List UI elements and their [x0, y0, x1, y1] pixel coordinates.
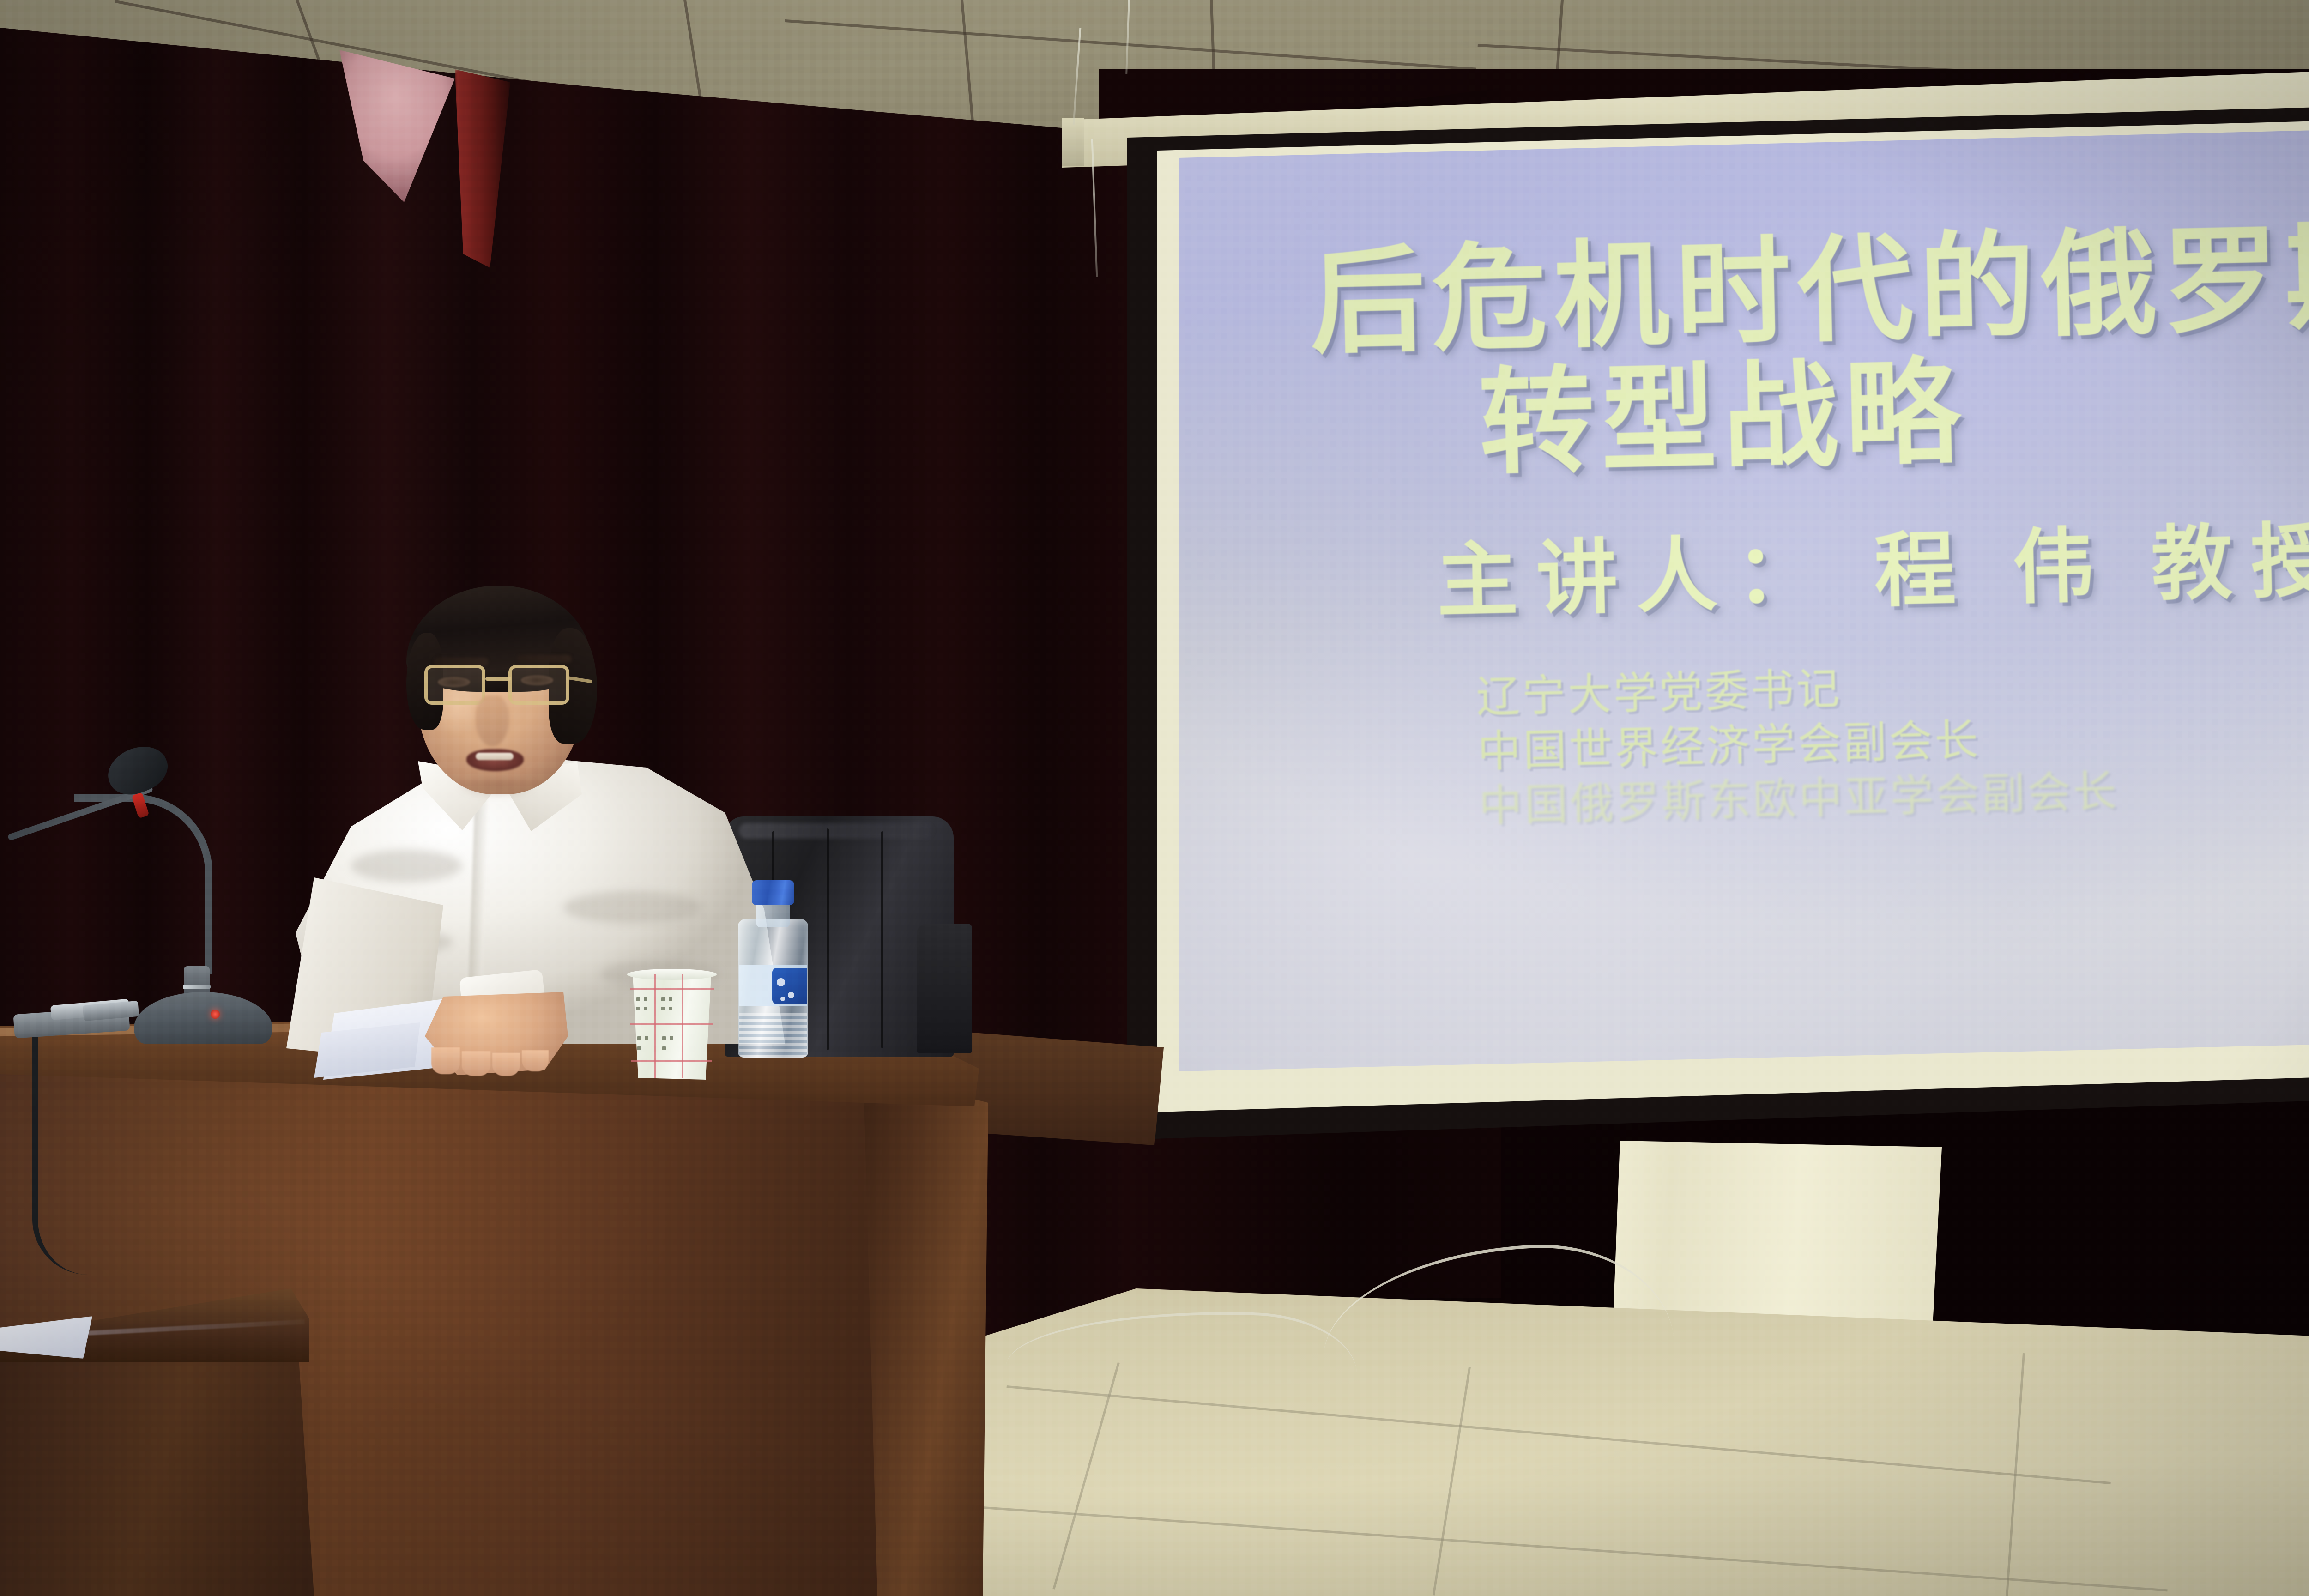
cup-pattern-dot [636, 1007, 640, 1010]
cup-pattern-line [630, 988, 714, 990]
cup-pattern-dot [662, 1046, 666, 1050]
slide-speaker-line: 主讲人： 程 伟 教授 [1435, 494, 2309, 633]
water-bottle-ribs [739, 1013, 807, 1058]
shirt-fold [351, 850, 462, 882]
chair-armrest [917, 924, 972, 1053]
finger [522, 1050, 549, 1071]
label-dot [788, 992, 794, 998]
speaker-teeth [476, 753, 514, 760]
chin-shadow [457, 774, 536, 797]
eyeglass-lens-right [508, 665, 569, 705]
label-dot [780, 997, 785, 1001]
cup-pattern-dot [670, 1036, 673, 1040]
cup-pattern-dot [644, 1007, 647, 1010]
cup-pattern-dot [637, 1036, 641, 1040]
cup-pattern-dot [645, 1036, 648, 1040]
photograph-canvas: 后危机时代的俄罗斯 转型战略 主讲人： 程 伟 教授 辽宁大学党委书记 中国世界… [0, 0, 2309, 1596]
microphone-cable [32, 1034, 120, 1275]
cup-pattern-line [654, 974, 656, 1078]
cup-pattern-dot [661, 1007, 665, 1010]
cup-pattern-dot [661, 997, 665, 1001]
screen-housing-end-cap [1062, 118, 1084, 166]
cup-pattern-dot [662, 1036, 666, 1040]
eyeglass-bridge [485, 677, 511, 681]
water-bottle-label-brand [772, 968, 807, 1004]
cup-pattern-line [682, 974, 683, 1078]
finger [492, 1053, 520, 1076]
chair-tufting-seam [881, 831, 883, 1048]
cup-pattern-dot [669, 1007, 672, 1010]
cup-pattern-dot [636, 997, 640, 1001]
finger [462, 1051, 490, 1076]
paper-cup-rim [627, 969, 717, 980]
cup-pattern-line [630, 1023, 713, 1025]
finger [431, 1047, 460, 1074]
chair-tufting-seam [827, 828, 829, 1050]
projection-screen[interactable]: 后危机时代的俄罗斯 转型战略 主讲人： 程 伟 教授 辽宁大学党委书记 中国世界… [1179, 128, 2309, 1071]
cup-pattern-dot [637, 1046, 641, 1050]
speaker-nose [476, 695, 509, 746]
label-dot [777, 978, 785, 986]
cup-pattern-dot [644, 997, 647, 1001]
slide-title-line-2: 转型战略 [1477, 318, 1968, 497]
presentation-slide: 后危机时代的俄罗斯 转型战略 主讲人： 程 伟 教授 辽宁大学党委书记 中国世界… [1179, 128, 2309, 1071]
eyeglass-lens-left [424, 665, 485, 705]
eyeglass-temple [566, 676, 592, 683]
cup-pattern-dot [669, 997, 672, 1001]
microphone-led-indicator [211, 1010, 220, 1019]
microphone-ring [183, 985, 211, 989]
water-bottle-cap[interactable] [752, 880, 794, 905]
podium-side-panel [859, 1070, 988, 1596]
shirt-fold [563, 891, 702, 924]
chair-highlight [739, 823, 933, 839]
microphone-gooseneck [74, 794, 212, 974]
cup-pattern-line [631, 1060, 712, 1062]
